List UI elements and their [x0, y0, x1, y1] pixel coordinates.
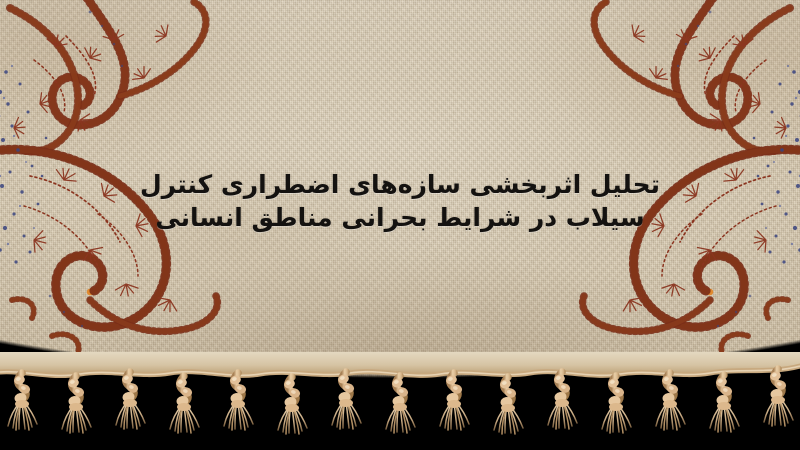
linen-weave-texture-secondary [0, 0, 800, 378]
textile-cloth [0, 0, 800, 378]
slide-canvas: تحلیل اثربخشی سازه‌های اضطراری کنترل سیل… [0, 0, 800, 450]
